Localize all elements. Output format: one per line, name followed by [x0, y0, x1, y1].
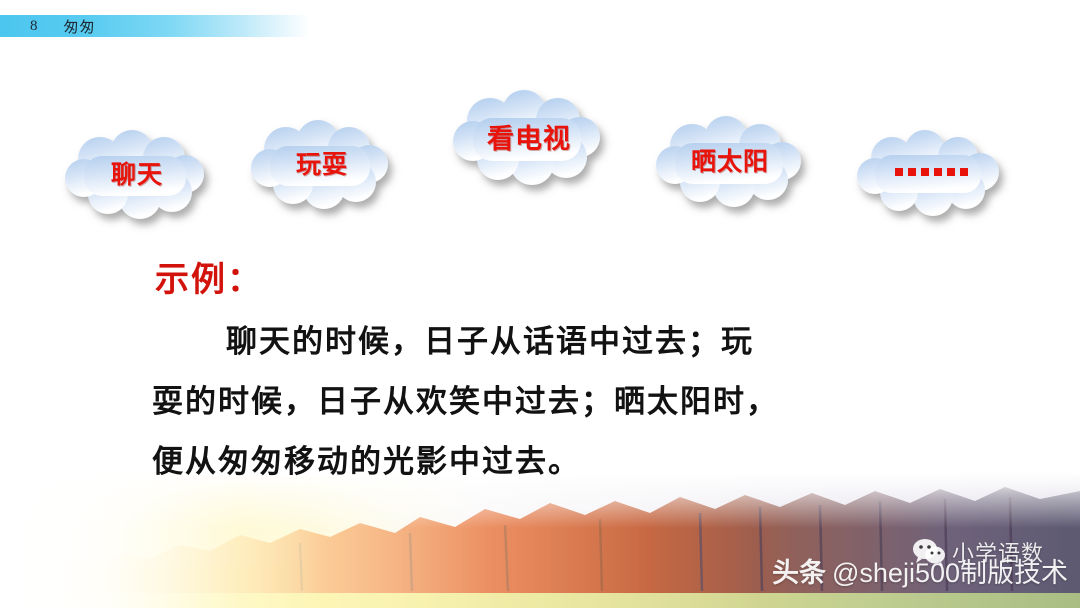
- cloud-shape-icon: [62, 132, 212, 214]
- cloud-bubble-play[interactable]: 玩耍: [248, 122, 396, 204]
- paragraph-line: 便从匆匆移动的光影中过去。: [152, 432, 952, 492]
- toutiao-watermark: 头条 @sheji500制版技术: [772, 551, 1068, 590]
- cloud-shape-icon: [248, 122, 396, 204]
- paragraph-line: 聊天的时候，日子从话语中过去；玩: [152, 312, 952, 372]
- page-number: 8: [30, 18, 38, 35]
- cloud-bubble-ellipsis[interactable]: [852, 132, 1010, 212]
- cloud-shape-icon: [450, 92, 608, 180]
- cloud-shape-icon: [852, 132, 1010, 212]
- platform-name: 头条: [772, 551, 826, 590]
- example-heading: 示例：: [155, 252, 263, 301]
- example-paragraph: 聊天的时候，日子从话语中过去；玩 耍的时候，日子从欢笑中过去；晒太阳时， 便从匆…: [152, 312, 952, 492]
- header: 8 匆匆: [0, 15, 96, 37]
- lesson-title: 匆匆: [64, 16, 96, 37]
- cloud-bubble-watch-tv[interactable]: 看电视: [450, 92, 608, 180]
- author-handle: @sheji500制版技术: [832, 551, 1068, 590]
- cloud-shape-icon: [650, 118, 810, 202]
- cloud-bubble-chat[interactable]: 聊天: [62, 132, 212, 214]
- paragraph-line: 耍的时候，日子从欢笑中过去；晒太阳时，: [152, 372, 952, 432]
- cloud-bubble-sunbathe[interactable]: 晒太阳: [650, 118, 810, 202]
